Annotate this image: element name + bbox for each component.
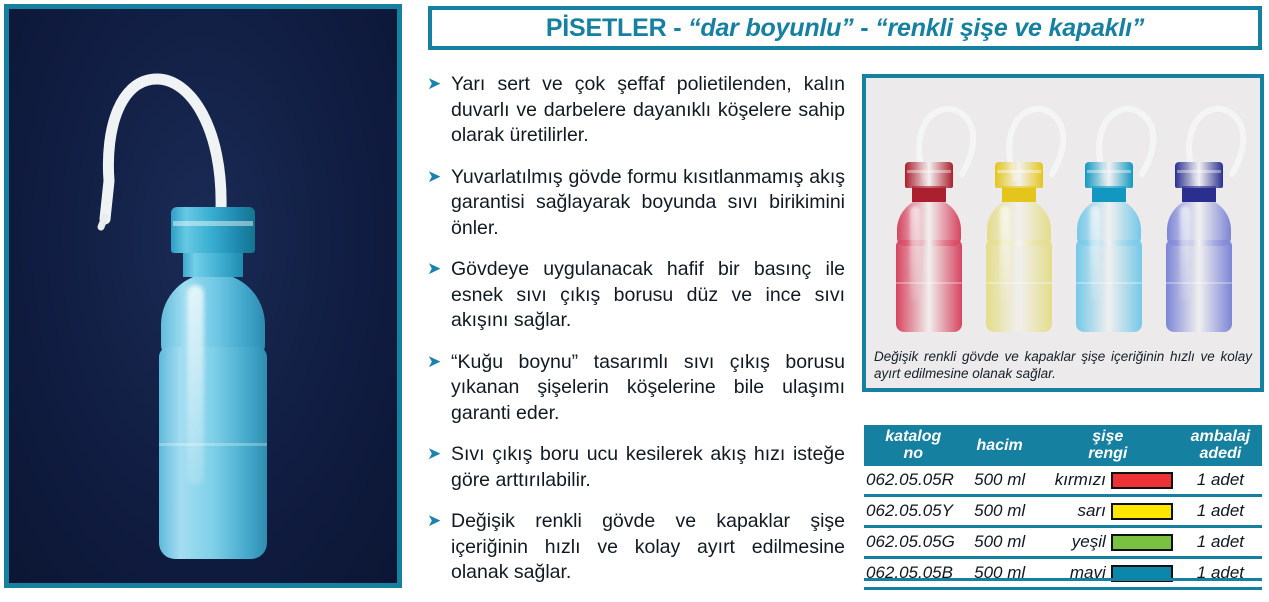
bottle-neck [183,251,243,277]
cell-volume: 500 ml [963,527,1037,558]
bottle-cap [1085,162,1133,188]
bottle-shoulder [1167,198,1231,246]
feature-text: Gövdeye uygulanacak hafif bir basınç ile… [451,258,845,331]
header-line-2: rengi [1088,445,1127,462]
specification-table: katalog no hacim şişe rengi ambalaj aded… [864,425,1262,590]
arrow-bullet-icon: ➤ [427,76,443,92]
catalog-page: PİSETLER - “dar boyunlu” - “renkli şişe … [0,0,1269,592]
bottle-highlight [1000,206,1010,302]
feature-item: ➤ Sıvı çıkış boru ucu kesilerek akış hız… [427,442,845,493]
header-line-1: hacim [977,437,1023,454]
photo-caption: Değişik renkli gövde ve kapaklar şişe iç… [874,348,1252,382]
bottle-neck [1182,186,1216,202]
table-row: 062.05.05R 500 ml kırmızı 1 adet [864,466,1262,496]
wash-bottle-illustration [157,207,269,565]
bottle-body [896,240,962,332]
arrow-bullet-icon: ➤ [427,513,443,529]
arrow-bullet-icon: ➤ [427,354,443,370]
cell-catalog-no: 062.05.05Y [864,496,963,527]
title-quote-2: “renkli şişe ve kapaklı” [875,14,1144,42]
table-bottom-rule [864,578,1262,581]
bottle-cap [1175,162,1223,188]
bottle-neck [912,186,946,202]
feature-item: ➤ Yuvarlatılmış gövde formu kısıtlanmamı… [427,165,845,242]
header-line-2: adedi [1200,445,1242,462]
column-header-bottle-color: şişe rengi [1037,425,1179,466]
cell-bottle-color: sarı [1037,496,1179,527]
page-title-box: PİSETLER - “dar boyunlu” - “renkli şişe … [428,6,1262,50]
cell-bottle-color: yeşil [1037,527,1179,558]
cell-bottle-color: mavi [1037,558,1179,589]
color-name: sarı [1077,501,1105,521]
cell-package-qty: 1 adet [1179,527,1262,558]
feature-text: Yarı sert ve çok şeffaf polietilenden, k… [451,73,845,146]
feature-item: ➤ Değişik renkli gövde ve kapaklar şişe … [427,509,845,586]
column-header-volume: hacim [963,425,1037,466]
color-variants-photo: Değişik renkli gövde ve kapaklar şişe iç… [862,74,1264,392]
bottle-cap [171,207,255,253]
arrow-bullet-icon: ➤ [427,169,443,185]
bottle-highlight [187,285,204,485]
color-bottle-navy [1164,162,1234,332]
header-line-1: ambalaj [1191,428,1251,445]
color-bottle-blue [1074,162,1144,332]
bottle-neck [1092,186,1126,202]
cell-catalog-no: 062.05.05R [864,466,963,496]
feature-item: ➤ “Kuğu boynu” tasarımlı sıvı çıkış boru… [427,350,845,427]
color-name: yeşil [1072,532,1106,552]
table-row: 062.05.05Y 500 ml sarı 1 adet [864,496,1262,527]
feature-item: ➤ Gövdeye uygulanacak hafif bir basınç i… [427,257,845,334]
title-sep-2: - [854,14,876,42]
color-swatch [1111,503,1173,520]
bottle-neck [1002,186,1036,202]
bottle-shoulder [987,198,1051,246]
bottle-shoulder [1077,198,1141,246]
bottle-body [159,347,267,559]
feature-item: ➤ Yarı sert ve çok şeffaf polietilenden,… [427,72,845,149]
feature-text: Yuvarlatılmış gövde formu kısıtlanmamış … [451,166,845,239]
header-line-1: şişe [1092,428,1123,445]
bottle-shoulder [897,198,961,246]
column-header-package-qty: ambalaj adedi [1179,425,1262,466]
cell-volume: 500 ml [963,558,1037,589]
table-header-row: katalog no hacim şişe rengi ambalaj aded… [864,425,1262,466]
feature-list: ➤ Yarı sert ve çok şeffaf polietilenden,… [427,72,845,602]
color-swatch [1111,472,1173,489]
table-row: 062.05.05G 500 ml yeşil 1 adet [864,527,1262,558]
title-quote-1: “dar boyunlu” [688,14,853,42]
column-header-catalog-no: katalog no [864,425,963,466]
title-main: PİSETLER [546,14,667,42]
color-name: kırmızı [1055,470,1106,490]
bottle-body [986,240,1052,332]
cell-package-qty: 1 adet [1179,466,1262,496]
feature-text: “Kuğu boynu” tasarımlı sıvı çıkış borusu… [451,351,845,424]
cell-catalog-no: 062.05.05G [864,527,963,558]
title-sep-1: - [666,14,688,42]
feature-text: Sıvı çıkış boru ucu kesilerek akış hızı … [451,443,845,491]
color-swatch [1111,534,1173,551]
bottle-highlight [910,206,920,302]
cell-package-qty: 1 adet [1179,496,1262,527]
table-row: 062.05.05B 500 ml mavi 1 adet [864,558,1262,589]
header-line-2: no [904,445,924,462]
cell-volume: 500 ml [963,496,1037,527]
bottle-body [1076,240,1142,332]
arrow-bullet-icon: ➤ [427,446,443,462]
cell-bottle-color: kırmızı [1037,466,1179,496]
header-line-1: katalog [885,428,941,445]
bottle-highlight [1090,206,1100,302]
main-product-photo [4,4,402,588]
cell-catalog-no: 062.05.05B [864,558,963,589]
bottle-body [1166,240,1232,332]
color-bottle-yellow [984,162,1054,332]
bottle-highlight [1180,206,1190,302]
bottle-cap [995,162,1043,188]
cell-package-qty: 1 adet [1179,558,1262,589]
feature-text: Değişik renkli gövde ve kapaklar şişe iç… [451,510,845,583]
bottle-cap [905,162,953,188]
color-bottle-red [894,162,964,332]
photo-stage [866,78,1260,346]
page-title: PİSETLER - “dar boyunlu” - “renkli şişe … [546,14,1144,43]
cell-volume: 500 ml [963,466,1037,496]
arrow-bullet-icon: ➤ [427,261,443,277]
